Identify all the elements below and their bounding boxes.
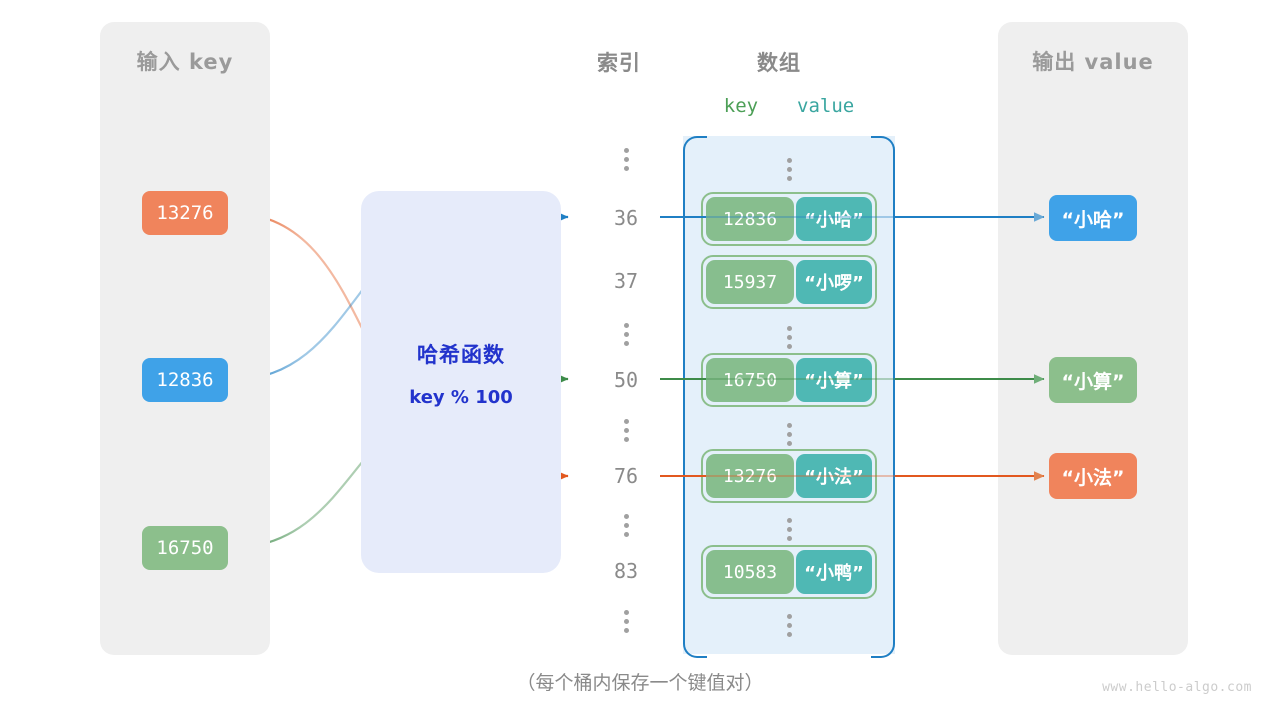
bucket-76-value: “小法” — [796, 454, 872, 498]
bucket-76-key: 13276 — [706, 454, 794, 498]
hash-function-title: 哈希函数 — [361, 339, 561, 369]
index-label-83[interactable]: 83 — [598, 561, 654, 581]
input-panel-title: 输入 key — [100, 46, 270, 76]
array-column-heading: 数组 — [757, 47, 801, 77]
output-value-chip-xiaosuan[interactable]: “小算” — [1049, 357, 1137, 403]
value-header-label: value — [797, 95, 854, 117]
index-label-37[interactable]: 37 — [598, 271, 654, 291]
index-label-50[interactable]: 50 — [598, 370, 654, 390]
input-key-chip-13276[interactable]: 13276 — [142, 191, 228, 235]
input-key-chip-16750[interactable]: 16750 — [142, 526, 228, 570]
bucket-83-key: 10583 — [706, 550, 794, 594]
index-ellipsis-2 — [598, 419, 654, 442]
index-ellipsis-4 — [598, 610, 654, 633]
index-ellipsis-0 — [598, 148, 654, 171]
output-value-chip-xiaofa[interactable]: “小法” — [1049, 453, 1137, 499]
output-panel-title: 输出 value — [998, 46, 1188, 76]
bucket-ellipsis-2 — [701, 423, 877, 446]
index-label-36[interactable]: 36 — [598, 208, 654, 228]
bucket-ellipsis-0 — [701, 158, 877, 181]
bucket-37-value: “小啰” — [796, 260, 872, 304]
bucket-83-value: “小鸭” — [796, 550, 872, 594]
bucket-50-value: “小算” — [796, 358, 872, 402]
index-ellipsis-3 — [598, 514, 654, 537]
bucket-76[interactable]: 13276 “小法” — [701, 449, 877, 503]
index-ellipsis-1 — [598, 323, 654, 346]
bucket-36-key: 12836 — [706, 197, 794, 241]
hash-function-box: 哈希函数 key % 100 — [361, 191, 561, 573]
key-value-header: key value — [683, 95, 895, 117]
bucket-50[interactable]: 16750 “小算” — [701, 353, 877, 407]
diagram-canvas: 输入 key 13276 12836 16750 哈希函数 key % 100 … — [0, 0, 1280, 720]
index-label-76[interactable]: 76 — [598, 466, 654, 486]
bucket-36[interactable]: 12836 “小哈” — [701, 192, 877, 246]
bucket-ellipsis-4 — [701, 614, 877, 637]
hash-function-expression: key % 100 — [361, 387, 561, 408]
output-value-chip-xiaoha[interactable]: “小哈” — [1049, 195, 1137, 241]
diagram-caption: （每个桶内保存一个键值对） — [0, 668, 1280, 695]
array-container: 12836 “小哈” 15937 “小啰” 16750 “小算” 13276 “… — [683, 136, 895, 654]
bucket-ellipsis-3 — [701, 518, 877, 541]
input-key-chip-12836[interactable]: 12836 — [142, 358, 228, 402]
key-header-label: key — [724, 95, 758, 117]
bucket-37[interactable]: 15937 “小啰” — [701, 255, 877, 309]
bucket-37-key: 15937 — [706, 260, 794, 304]
index-column-heading: 索引 — [597, 47, 641, 77]
watermark: www.hello-algo.com — [1102, 680, 1252, 695]
bucket-ellipsis-1 — [701, 326, 877, 349]
output-value-panel: 输出 value — [998, 22, 1188, 655]
bucket-36-value: “小哈” — [796, 197, 872, 241]
bucket-83[interactable]: 10583 “小鸭” — [701, 545, 877, 599]
bucket-50-key: 16750 — [706, 358, 794, 402]
